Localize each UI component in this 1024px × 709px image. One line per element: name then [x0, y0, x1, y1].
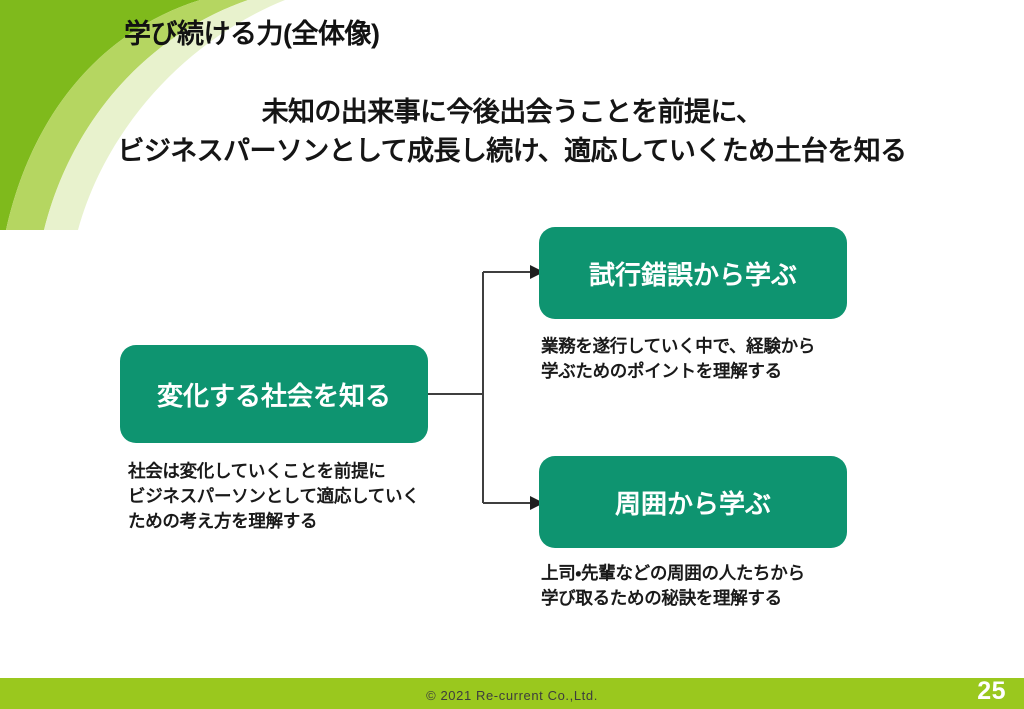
node-surroundings-caption: 上司・先輩などの周囲の人たちから 学び取るための秘訣を理解する: [541, 561, 805, 611]
node-trial-error-label: 試行錯誤から学ぶ: [589, 255, 797, 292]
node-trial-error-box[interactable]: 試行錯誤から学ぶ: [539, 227, 847, 319]
footer-copyright: © 2021 Re-current Co.,Ltd.: [0, 688, 1024, 703]
page-title: 学び続ける力(全体像): [124, 12, 379, 51]
node-source-box[interactable]: 変化する社会を知る: [120, 345, 428, 443]
node-source-caption: 社会は変化していくことを前提に ビジネスパーソンとして適応していく ための考え方…: [128, 459, 419, 534]
slide-subtitle: 未知の出来事に今後出会うことを前提に、 ビジネスパーソンとして成長し続け、適応し…: [0, 93, 1024, 171]
caption-line: ビジネスパーソンとして適応していく: [128, 484, 419, 509]
connector-arrows: [420, 250, 550, 525]
subtitle-line-2: ビジネスパーソンとして成長し続け、適応していくため土台を知る: [0, 132, 1024, 171]
caption-line: 社会は変化していくことを前提に: [128, 459, 419, 484]
caption-line: 上司・先輩などの周囲の人たちから: [541, 561, 805, 586]
caption-line: 学び取るための秘訣を理解する: [541, 586, 805, 611]
node-source-label: 変化する社会を知る: [157, 376, 391, 413]
node-trial-error-caption: 業務を遂行していく中で、経験から 学ぶためのポイントを理解する: [541, 334, 815, 384]
caption-line: 学ぶためのポイントを理解する: [541, 359, 815, 384]
caption-line: ための考え方を理解する: [128, 509, 419, 534]
node-surroundings-label: 周囲から学ぶ: [615, 484, 771, 521]
slide-canvas: 学び続ける力(全体像) 未知の出来事に今後出会うことを前提に、 ビジネスパーソン…: [0, 0, 1024, 709]
node-surroundings-box[interactable]: 周囲から学ぶ: [539, 456, 847, 548]
subtitle-line-1: 未知の出来事に今後出会うことを前提に、: [0, 93, 1024, 132]
page-number: 25: [977, 677, 1006, 706]
caption-line: 業務を遂行していく中で、経験から: [541, 334, 815, 359]
